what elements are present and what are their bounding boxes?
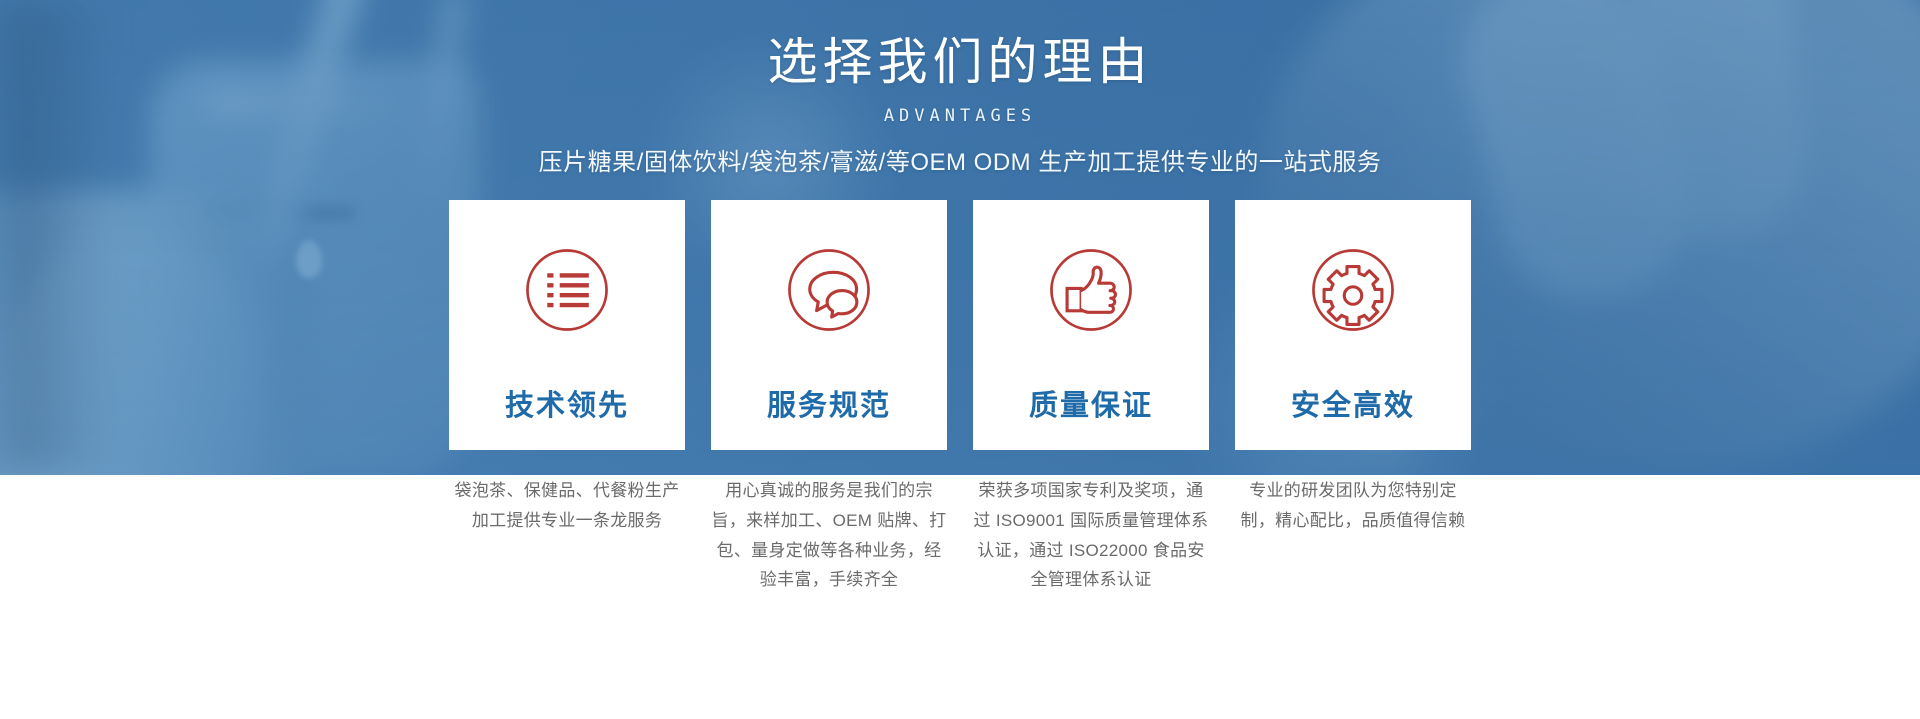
card-title: 技术领先 xyxy=(449,380,685,450)
card-icon-panel xyxy=(449,200,685,380)
page-description: 压片糖果/固体饮料/袋泡茶/膏滋/等OEM ODM 生产加工提供专业的一站式服务 xyxy=(0,142,1920,177)
card-description: 用心真诚的服务是我们的宗旨，来样加工、OEM 贴牌、打包、量身定做等各种业务，经… xyxy=(711,476,947,595)
list-icon xyxy=(515,238,619,342)
feature-card[interactable]: 质量保证 荣获多项国家专利及奖项，通过 ISO9001 国际质量管理体系认证，通… xyxy=(973,200,1209,595)
thumbs-up-icon xyxy=(1039,238,1143,342)
feature-card[interactable]: 服务规范 用心真诚的服务是我们的宗旨，来样加工、OEM 贴牌、打包、量身定做等各… xyxy=(711,200,947,595)
feature-card[interactable]: 安全高效 专业的研发团队为您特别定制，精心配比，品质值得信赖 xyxy=(1235,200,1471,536)
page-title: 选择我们的理由 xyxy=(0,34,1920,92)
card-icon-panel xyxy=(1235,200,1471,380)
card-title: 安全高效 xyxy=(1235,380,1471,450)
card-title: 服务规范 xyxy=(711,380,947,450)
card-description: 袋泡茶、保健品、代餐粉生产加工提供专业一条龙服务 xyxy=(449,476,685,536)
card-description: 专业的研发团队为您特别定制，精心配比，品质值得信赖 xyxy=(1235,476,1471,536)
card-description: 荣获多项国家专利及奖项，通过 ISO9001 国际质量管理体系认证，通过 ISO… xyxy=(973,476,1209,595)
chat-bubbles-icon xyxy=(777,238,881,342)
card-title: 质量保证 xyxy=(973,380,1209,450)
advantages-section: 选择我们的理由 ADVANTAGES 压片糖果/固体饮料/袋泡茶/膏滋/等OEM… xyxy=(0,0,1920,719)
feature-card[interactable]: 技术领先 袋泡茶、保健品、代餐粉生产加工提供专业一条龙服务 xyxy=(449,200,685,536)
card-icon-panel xyxy=(711,200,947,380)
gear-icon xyxy=(1301,238,1405,342)
header-block: 选择我们的理由 ADVANTAGES 压片糖果/固体饮料/袋泡茶/膏滋/等OEM… xyxy=(0,0,1920,177)
feature-card-list: 技术领先 袋泡茶、保健品、代餐粉生产加工提供专业一条龙服务 服务规范 用心真诚的… xyxy=(0,200,1920,595)
card-icon-panel xyxy=(973,200,1209,380)
page-subtitle: ADVANTAGES xyxy=(0,106,1920,126)
